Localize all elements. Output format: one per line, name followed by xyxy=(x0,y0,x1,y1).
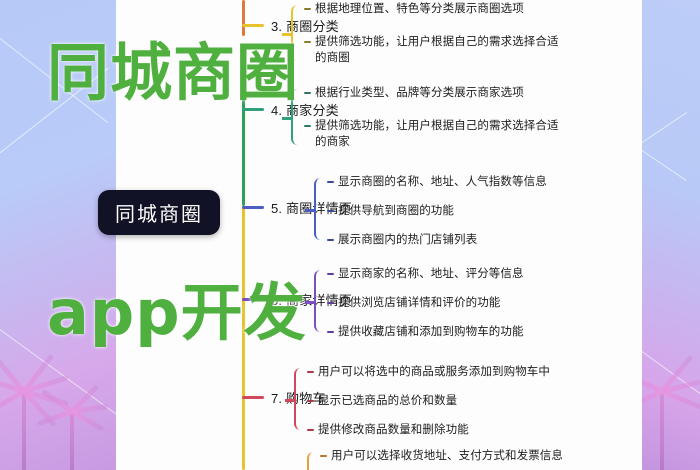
leaf-text: 展示商圈内的热门店铺列表 xyxy=(338,232,477,248)
leaf-text: 用户可以将选中的商品或服务添加到购物车中 xyxy=(318,364,550,380)
node-brace-7 xyxy=(294,368,307,430)
leaf-tick xyxy=(320,455,327,457)
leaf-text: 显示商圈的名称、地址、人气指数等信息 xyxy=(338,174,547,190)
wallpaper-right xyxy=(642,0,700,470)
leaf-text: 提供导航到商圈的功能 xyxy=(338,203,454,219)
leaf-tick xyxy=(304,92,311,94)
leaf-tick xyxy=(307,429,314,431)
overlay-subtitle: app开发 xyxy=(47,262,307,352)
leaf-text: 显示商家的名称、地址、评分等信息 xyxy=(338,266,524,282)
overlay-badge: 同城商圈 xyxy=(98,190,220,235)
leaf-tick xyxy=(307,400,314,402)
leaf-tick xyxy=(327,239,334,241)
leaf-text: 根据地理位置、特色等分类展示商圈选项 xyxy=(315,1,524,17)
leaf-tick xyxy=(327,331,334,333)
leaf-7-3[interactable]: 提供修改商品数量和删除功能 xyxy=(307,422,469,438)
node-connector-5 xyxy=(242,206,264,209)
node-brace-6 xyxy=(314,270,327,332)
leaf-text: 用户可以选择收货地址、支付方式和发票信息 xyxy=(331,448,563,464)
overlay-badge-label: 同城商圈 xyxy=(115,202,203,226)
leaf-text: 提供浏览店铺详情和评价的功能 xyxy=(338,295,500,311)
leaf-tick xyxy=(327,181,334,183)
leaf-tick xyxy=(304,41,311,43)
leaf-5-1[interactable]: 显示商圈的名称、地址、人气指数等信息 xyxy=(327,174,547,190)
leaf-5-2[interactable]: 提供导航到商圈的功能 xyxy=(327,203,454,219)
leaf-text: 显示已选商品的总价和数量 xyxy=(318,393,457,409)
leaf-3-2[interactable]: 提供筛选功能，让用户根据自己的需求选择合适的商圈 xyxy=(304,34,561,66)
leaf-6-1[interactable]: 显示商家的名称、地址、评分等信息 xyxy=(327,266,524,282)
leaf-6-2[interactable]: 提供浏览店铺详情和评价的功能 xyxy=(327,295,500,311)
leaf-text: 提供收藏店铺和添加到购物车的功能 xyxy=(338,324,524,340)
leaf-tick xyxy=(307,371,314,373)
leaf-tick xyxy=(304,8,311,10)
leaf-4-1[interactable]: 根据行业类型、品牌等分类展示商家选项 xyxy=(304,85,524,101)
leaf-text: 提供修改商品数量和删除功能 xyxy=(318,422,469,438)
leaf-tick xyxy=(327,273,334,275)
leaf-7-2[interactable]: 显示已选商品的总价和数量 xyxy=(307,393,457,409)
leaf-3-1[interactable]: 根据地理位置、特色等分类展示商圈选项 xyxy=(304,1,524,17)
node-brace-5 xyxy=(314,178,327,240)
leaf-7-1[interactable]: 用户可以将选中的商品或服务添加到购物车中 xyxy=(307,364,550,380)
leaf-4-2[interactable]: 提供筛选功能，让用户根据自己的需求选择合适的商家 xyxy=(304,118,561,150)
node-brace-8 xyxy=(307,452,320,470)
screenshot-root: 3. 商圈分类 根据地理位置、特色等分类展示商圈选项 提供筛选功能，让用户根据自… xyxy=(0,0,700,470)
overlay-title: 同城商圈 xyxy=(47,22,299,112)
leaf-8-1[interactable]: 用户可以选择收货地址、支付方式和发票信息 xyxy=(320,448,563,464)
leaf-5-3[interactable]: 展示商圈内的热门店铺列表 xyxy=(327,232,477,248)
node-connector-7 xyxy=(242,396,264,399)
leaf-tick xyxy=(327,302,334,304)
palm-silhouettes-right xyxy=(642,260,700,470)
leaf-text: 根据行业类型、品牌等分类展示商家选项 xyxy=(315,85,524,101)
leaf-6-3[interactable]: 提供收藏店铺和添加到购物车的功能 xyxy=(327,324,524,340)
leaf-tick xyxy=(304,125,311,127)
leaf-text: 提供筛选功能，让用户根据自己的需求选择合适的商家 xyxy=(315,118,561,150)
leaf-text: 提供筛选功能，让用户根据自己的需求选择合适的商圈 xyxy=(315,34,561,66)
leaf-tick xyxy=(327,210,334,212)
